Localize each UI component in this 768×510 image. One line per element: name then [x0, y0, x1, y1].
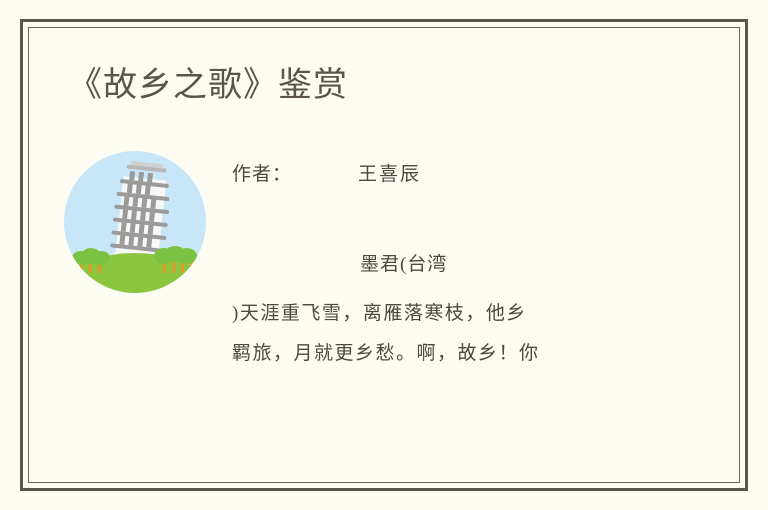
leaning-tower-of-pisa-icon — [64, 148, 206, 296]
poem-line-2: 羁旅，月就更乡愁。啊，故乡！你 — [232, 334, 664, 374]
author-label: 作者： — [232, 160, 292, 190]
author-name: 王喜辰 — [358, 160, 421, 190]
page-title: 《故乡之歌》鉴赏 — [68, 62, 348, 108]
content-text-block: 作者： 王喜辰 墨君(台湾 )天涯重飞雪，离雁落寒枝，他乡 羁旅，月就更乡愁。啊… — [232, 160, 664, 374]
slide-page: 《故乡之歌》鉴赏 — [0, 0, 768, 510]
author-line: 作者： 王喜辰 — [232, 160, 664, 190]
poem-line-1: )天涯重飞雪，离雁落寒枝，他乡 — [232, 294, 664, 334]
poet-attribution: 墨君(台湾 — [232, 250, 664, 280]
